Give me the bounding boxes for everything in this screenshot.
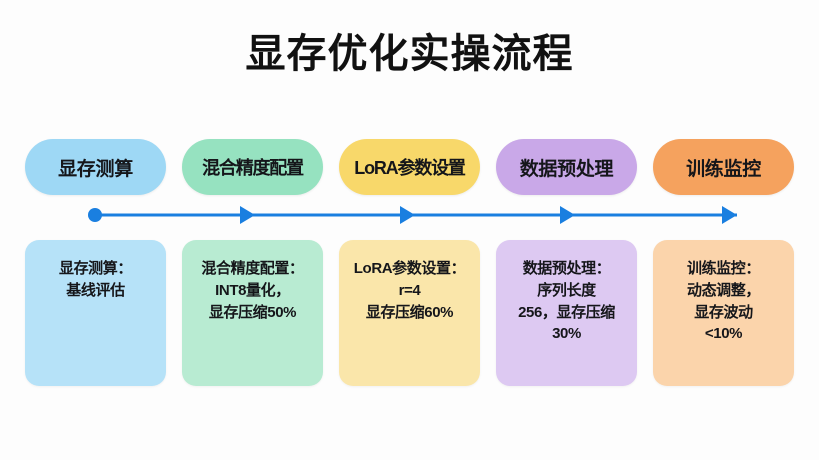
- step-pill-row: 显存测算 混合精度配置 LoRA参数设置 数据预处理 训练监控: [25, 139, 794, 195]
- step-detail-card-2[interactable]: 混合精度配置： INT8量化， 显存压缩50%: [182, 240, 323, 386]
- slide-canvas: 显存优化实操流程 显存测算 混合精度配置 LoRA参数设置 数据预处理 训练监控…: [0, 0, 819, 460]
- step-detail-card-1[interactable]: 显存测算： 基线评估: [25, 240, 166, 386]
- step-detail-card-4[interactable]: 数据预处理： 序列长度 256，显存压缩 30%: [496, 240, 637, 386]
- step-detail-text-3: LoRA参数设置： r=4 显存压缩60%: [354, 258, 465, 323]
- step-detail-card-row: 显存测算： 基线评估 混合精度配置： INT8量化， 显存压缩50% LoRA参…: [25, 240, 794, 386]
- step-pill-label-5: 训练监控: [686, 154, 761, 181]
- step-detail-text-2: 混合精度配置： INT8量化， 显存压缩50%: [201, 258, 303, 323]
- step-pill-3[interactable]: LoRA参数设置: [339, 139, 480, 195]
- timeline-arrowhead-2: [400, 206, 415, 224]
- step-pill-1[interactable]: 显存测算: [25, 139, 166, 195]
- step-detail-card-5[interactable]: 训练监控： 动态调整， 显存波动 <10%: [653, 240, 794, 386]
- step-pill-5[interactable]: 训练监控: [653, 139, 794, 195]
- step-pill-label-3: LoRA参数设置: [354, 154, 464, 180]
- step-pill-2[interactable]: 混合精度配置: [182, 139, 323, 195]
- page-title: 显存优化实操流程: [0, 30, 819, 78]
- timeline-arrowhead-3: [560, 206, 575, 224]
- step-pill-4[interactable]: 数据预处理: [496, 139, 637, 195]
- process-flow-arrow: [0, 200, 819, 232]
- step-pill-label-4: 数据预处理: [520, 154, 614, 181]
- step-detail-text-5: 训练监控： 动态调整， 显存波动 <10%: [687, 258, 760, 345]
- step-pill-label-1: 显存测算: [58, 154, 133, 181]
- timeline-start-dot: [88, 208, 102, 222]
- step-detail-text-1: 显存测算： 基线评估: [59, 258, 132, 302]
- timeline-arrowhead-4: [722, 206, 737, 224]
- step-detail-card-3[interactable]: LoRA参数设置： r=4 显存压缩60%: [339, 240, 480, 386]
- step-detail-text-4: 数据预处理： 序列长度 256，显存压缩 30%: [518, 258, 615, 345]
- timeline-arrowhead-1: [240, 206, 255, 224]
- step-pill-label-2: 混合精度配置: [202, 154, 303, 180]
